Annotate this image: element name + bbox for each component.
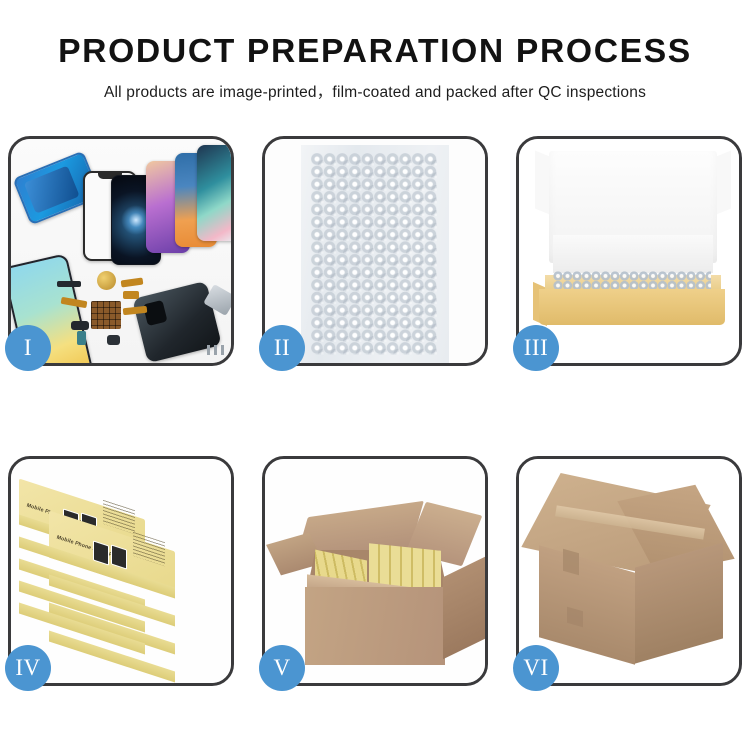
component-block-part [71, 321, 89, 330]
carton-body-front [305, 587, 445, 665]
bubble-wrap-texture [311, 153, 437, 355]
step-badge-4: IV [5, 645, 51, 691]
step-2-image [265, 139, 485, 363]
carton-body-side [443, 557, 485, 659]
chip-grid-part [91, 301, 121, 329]
phone-screen-teal [197, 145, 231, 241]
speaker-coil-part [97, 271, 116, 290]
component-chip-part [107, 335, 120, 345]
process-step-4[interactable]: Mobile Phone Spare Parts Mobile Phone Sp… [8, 456, 234, 686]
step-1-image [11, 139, 231, 363]
step-3-image [519, 139, 739, 363]
process-step-6[interactable]: VI [516, 456, 742, 686]
carton-seam-tab [563, 549, 579, 576]
flex-cable-part [121, 278, 144, 288]
component-strip-part [57, 281, 81, 287]
page-title: PRODUCT PREPARATION PROCESS [0, 34, 750, 67]
step-badge-6: VI [513, 645, 559, 691]
foam-liner [553, 235, 713, 273]
screws-part [207, 345, 225, 355]
step-5-image [265, 459, 485, 683]
step-badge-5: V [259, 645, 305, 691]
step-4-image: Mobile Phone Spare Parts Mobile Phone Sp… [11, 459, 231, 683]
process-step-3[interactable]: III [516, 136, 742, 366]
process-step-2[interactable]: II [262, 136, 488, 366]
step-badge-3: III [513, 325, 559, 371]
step-badge-1: I [5, 325, 51, 371]
page-subtitle: All products are image-printed，film-coat… [0, 80, 750, 102]
step-badge-2: II [259, 325, 305, 371]
battery-connector-part [77, 331, 86, 345]
flex-cable-part [123, 291, 139, 299]
process-step-grid: I II III Mobile Phone Spare Parts [8, 136, 742, 686]
process-step-1[interactable]: I [8, 136, 234, 366]
page-header: PRODUCT PREPARATION PROCESS All products… [0, 0, 750, 102]
step-6-image [519, 459, 739, 683]
box-tray-front [539, 289, 725, 325]
process-step-5[interactable]: V [262, 456, 488, 686]
